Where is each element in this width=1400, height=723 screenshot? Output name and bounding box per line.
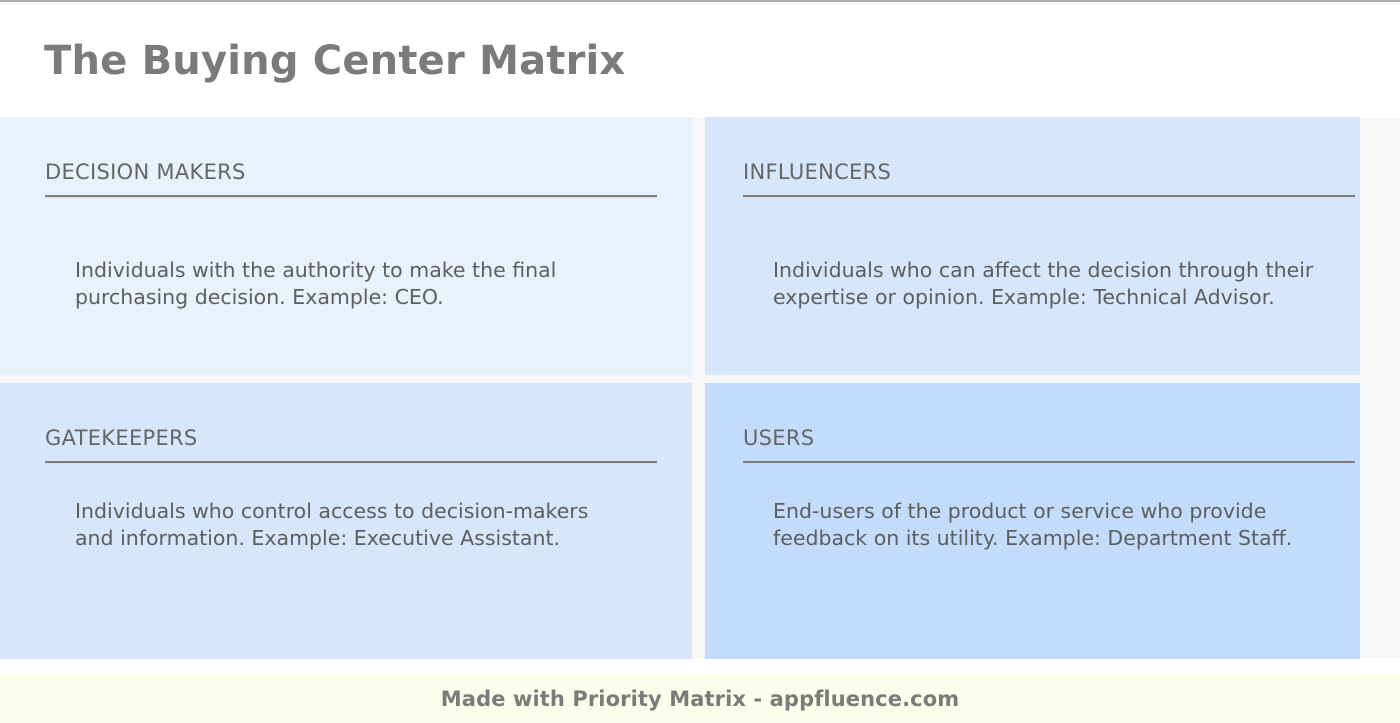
quadrant-title: USERS	[743, 427, 1355, 450]
footer-attribution[interactable]: Made with Priority Matrix - appfluence.c…	[441, 687, 959, 711]
quadrant-decision-makers[interactable]: DECISION MAKERS Individuals with the aut…	[0, 117, 692, 375]
quadrant-header: GATEKEEPERS	[45, 427, 657, 464]
quadrant-description: Individuals who can affect the decision …	[773, 257, 1318, 312]
quadrant-description: Individuals who control access to decisi…	[75, 498, 615, 553]
buying-center-matrix-page: The Buying Center Matrix DECISION MAKERS…	[0, 0, 1400, 721]
quadrant-header: USERS	[743, 427, 1355, 464]
quadrant-header: DECISION MAKERS	[45, 161, 657, 198]
quadrant-influencers[interactable]: INFLUENCERS Individuals who can affect t…	[705, 117, 1360, 375]
quadrant-title: INFLUENCERS	[743, 161, 1355, 184]
quadrant-title-rule	[45, 195, 657, 198]
quadrant-description: Individuals with the authority to make t…	[75, 257, 615, 312]
quadrant-title-rule	[743, 195, 1355, 198]
page-title: The Buying Center Matrix	[0, 41, 625, 81]
quadrant-header: INFLUENCERS	[743, 161, 1355, 198]
page-header: The Buying Center Matrix	[0, 4, 1400, 117]
quadrant-gatekeepers[interactable]: GATEKEEPERS Individuals who control acce…	[0, 383, 692, 659]
quadrant-description: End-users of the product or service who …	[773, 498, 1318, 553]
quadrant-title-rule	[45, 461, 657, 464]
quadrant-title: GATEKEEPERS	[45, 427, 657, 450]
footer-spacer	[0, 659, 1400, 674]
quadrant-title: DECISION MAKERS	[45, 161, 657, 184]
quadrant-users[interactable]: USERS End-users of the product or servic…	[705, 383, 1360, 659]
matrix-grid: DECISION MAKERS Individuals with the aut…	[0, 117, 1400, 659]
quadrant-title-rule	[743, 461, 1355, 464]
page-footer: Made with Priority Matrix - appfluence.c…	[0, 674, 1400, 723]
